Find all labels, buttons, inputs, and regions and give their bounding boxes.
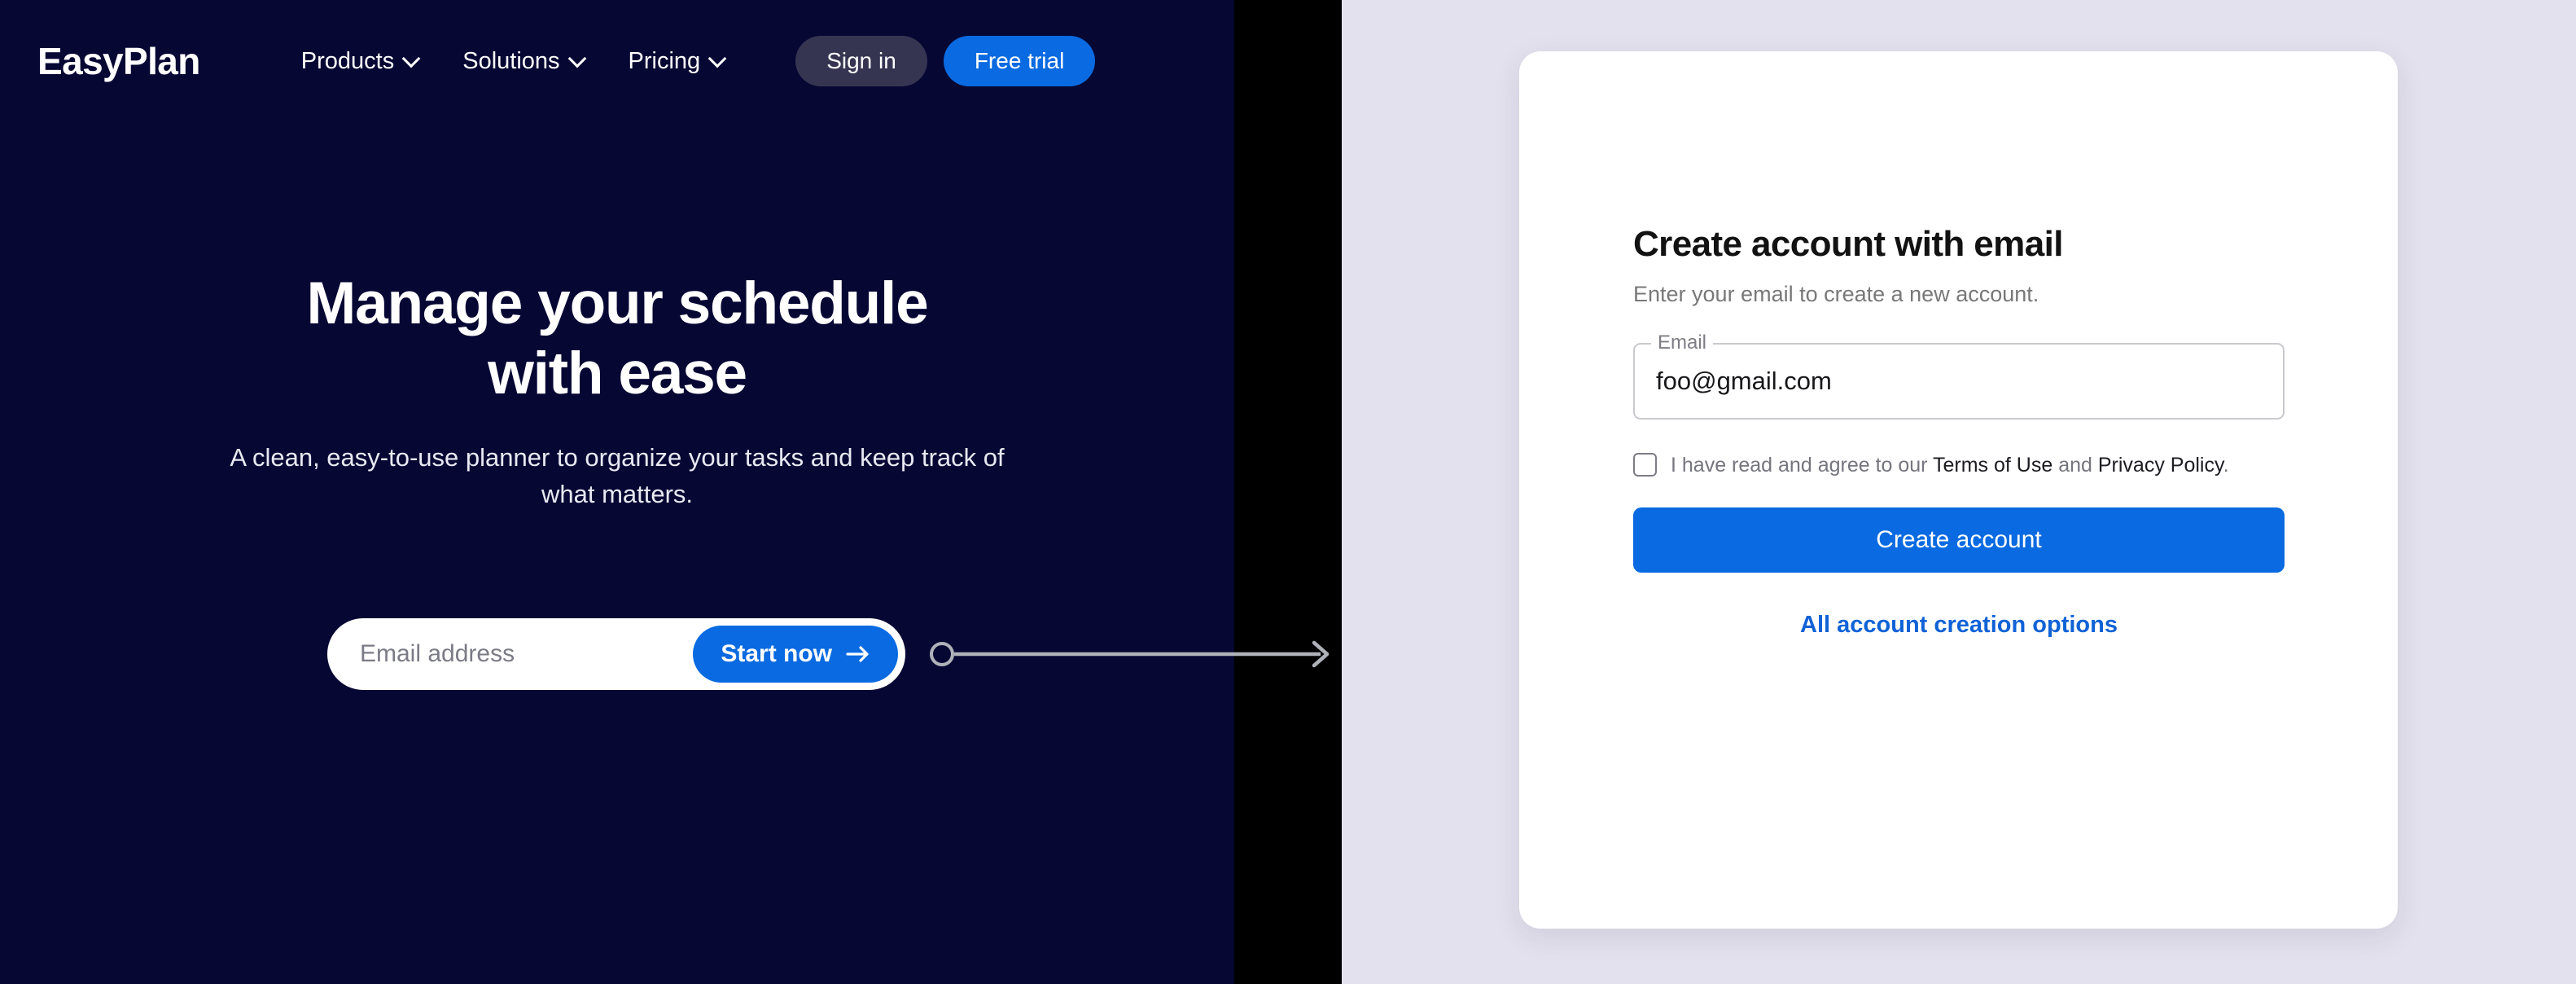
hero-subtitle: A clean, easy-to-use planner to organize… <box>226 440 1008 513</box>
dialog-title: Create account with email <box>1633 224 2285 266</box>
create-account-card: Create account with email Enter your ema… <box>1519 51 2398 929</box>
chevron-down-icon <box>570 51 585 66</box>
all-account-creation-options-link[interactable]: All account creation options <box>1633 612 2285 639</box>
nav-item-products-label: Products <box>301 48 394 75</box>
consent-row: I have read and agree to our Terms of Us… <box>1633 452 2285 479</box>
nav-item-solutions-label: Solutions <box>462 48 559 75</box>
email-input[interactable] <box>1635 345 2283 418</box>
privacy-policy-link[interactable]: Privacy Policy <box>2098 454 2223 477</box>
free-trial-button[interactable]: Free trial <box>944 36 1095 86</box>
email-field-group: Email <box>1633 343 2285 420</box>
marketing-site-panel: EasyPlan Products Solutions Pricing Sign… <box>0 0 1234 984</box>
dialog-subtitle: Enter your email to create a new account… <box>1633 280 2285 309</box>
screen-root: EasyPlan Products Solutions Pricing Sign… <box>0 0 2576 984</box>
email-capture-pill: Start now <box>327 618 905 690</box>
consent-text: I have read and agree to our Terms of Us… <box>1671 452 2229 479</box>
arrow-right-icon <box>846 644 870 665</box>
terms-of-use-link[interactable]: Terms of Use <box>1933 454 2052 477</box>
signup-app-panel: Create account with email Enter your ema… <box>1342 0 2576 984</box>
sign-in-button[interactable]: Sign in <box>795 36 927 86</box>
nav-item-pricing[interactable]: Pricing <box>607 48 747 75</box>
site-navbar: EasyPlan Products Solutions Pricing Sign… <box>0 0 1234 122</box>
navbar-actions: Sign in Free trial <box>795 36 1095 86</box>
hero-section: Manage your schedule with ease A clean, … <box>0 269 1234 513</box>
start-now-button[interactable]: Start now <box>693 626 898 683</box>
hero-title: Manage your schedule with ease <box>210 269 1024 409</box>
hero-title-line-2: with ease <box>488 340 747 406</box>
nav-item-solutions[interactable]: Solutions <box>440 48 606 75</box>
start-now-label: Start now <box>721 640 832 668</box>
nav-item-products[interactable]: Products <box>279 48 440 75</box>
hero-cta: Start now <box>327 618 905 690</box>
hero-email-input[interactable] <box>360 618 693 690</box>
create-account-form: Create account with email Enter your ema… <box>1633 224 2285 639</box>
nav-item-pricing-label: Pricing <box>629 48 701 75</box>
consent-conjunction: and <box>2052 454 2098 477</box>
arrow-right-icon <box>1314 643 1327 666</box>
hero-title-line-1: Manage your schedule <box>307 270 928 336</box>
primary-nav: Products Solutions Pricing <box>279 48 747 75</box>
chevron-down-icon <box>404 51 418 66</box>
brand-logo[interactable]: EasyPlan <box>37 39 200 83</box>
create-account-button[interactable]: Create account <box>1633 507 2285 573</box>
consent-checkbox[interactable] <box>1633 453 1657 477</box>
consent-suffix: . <box>2223 454 2229 477</box>
chevron-down-icon <box>710 51 725 66</box>
consent-prefix: I have read and agree to our <box>1671 454 1933 477</box>
